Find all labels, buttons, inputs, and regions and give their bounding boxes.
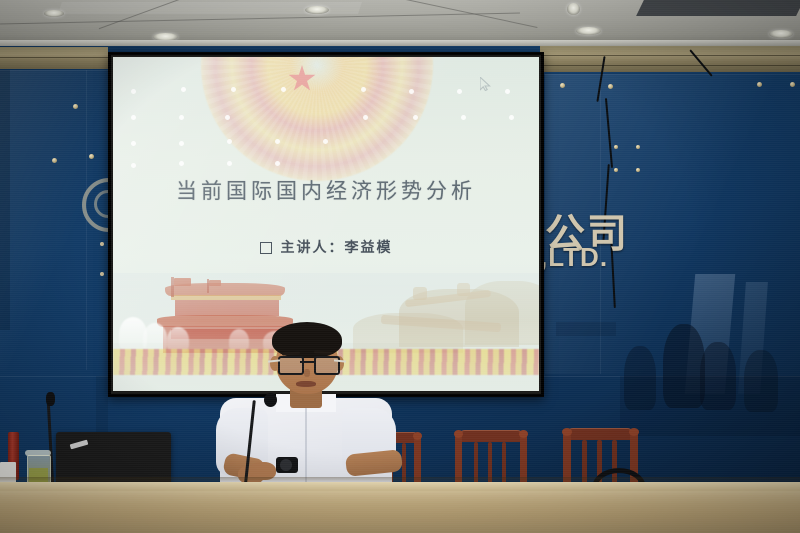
wall-edge-shadow <box>96 376 108 436</box>
glasses-lens-left <box>278 356 304 375</box>
wall-screw <box>757 82 762 87</box>
presenter-nose <box>304 369 310 377</box>
downlight-icon <box>576 27 601 35</box>
decor-dot <box>361 87 366 92</box>
downlight-icon <box>567 3 580 15</box>
downlight-icon <box>769 30 793 38</box>
valance-band <box>540 46 800 72</box>
decor-dot <box>231 87 236 92</box>
decor-dot <box>131 141 136 146</box>
reflection-shadow <box>620 376 800 436</box>
glasses-bridge <box>300 361 314 363</box>
decor-dot <box>509 115 514 120</box>
decor-dot <box>409 89 414 94</box>
wall-screw <box>52 158 57 163</box>
decor-dot <box>131 89 136 94</box>
cursor-icon <box>480 77 491 91</box>
decor-dot <box>363 115 368 120</box>
valance-line <box>540 65 800 66</box>
decor-dot <box>225 115 230 120</box>
logo-dot <box>100 272 104 276</box>
chair-backrest-top <box>566 428 634 440</box>
decor-dot <box>179 115 184 120</box>
presenter-forearm-right <box>345 449 403 477</box>
wall-screw <box>608 84 613 89</box>
decor-dot <box>457 89 462 94</box>
reflection-shadow <box>556 322 616 336</box>
wall-screw <box>73 104 78 109</box>
decor-dot <box>179 161 184 166</box>
ceiling-seam <box>0 13 520 25</box>
presenter-mouth <box>296 381 316 387</box>
decor-dot <box>281 87 286 92</box>
downlight-icon <box>305 6 329 14</box>
decor-dot <box>275 161 280 166</box>
downlight-icon <box>44 10 64 17</box>
wall-screw <box>614 145 618 149</box>
wall-company-name-en: ,LTD. <box>540 242 608 273</box>
valance-line <box>540 55 800 56</box>
chair-backrest-top <box>458 430 524 442</box>
laptop-logo <box>70 440 89 450</box>
wall-screw <box>614 168 618 172</box>
wall-screw <box>636 145 640 149</box>
microphone-head-left <box>46 392 55 406</box>
hanging-cable <box>605 98 613 168</box>
wall-seam <box>0 70 108 71</box>
wall-seam <box>544 74 800 75</box>
tea-glass-lid <box>25 450 51 456</box>
presentation-photo-scene: 公司 ,LTD. <box>0 0 800 533</box>
decor-dot <box>323 139 328 144</box>
chair-knob <box>562 428 572 436</box>
valance-line <box>0 57 108 58</box>
decor-dot <box>461 115 466 120</box>
sunburst-rays <box>201 57 433 181</box>
wall-screw <box>560 83 565 88</box>
chair-knob <box>413 432 422 440</box>
decor-dot <box>179 141 184 146</box>
chair-knob <box>454 430 463 438</box>
slide-subtitle-text: 主讲人：李益模 <box>281 240 393 256</box>
logo-dot <box>100 242 104 246</box>
slide-title: 当前国际国内经济形势分析 <box>113 175 539 205</box>
microphone-head <box>264 393 277 407</box>
wall-screw <box>89 154 94 159</box>
wall-screw <box>636 168 640 172</box>
slide-subtitle: 主讲人：李益模 <box>113 237 539 257</box>
decor-dot <box>131 115 136 120</box>
decor-dot <box>131 163 136 168</box>
bullet-square-icon <box>260 242 272 254</box>
decor-dot <box>227 161 232 166</box>
decor-dot <box>413 115 418 120</box>
decor-dot <box>181 87 186 92</box>
chair-knob <box>519 430 528 438</box>
chair-knob <box>629 428 639 436</box>
wall-screw <box>790 82 795 87</box>
table-edge-highlight <box>0 482 800 491</box>
conference-table <box>0 491 800 533</box>
decor-dot <box>227 139 232 144</box>
ceiling-dark-panel <box>636 0 800 16</box>
decor-dot <box>275 139 280 144</box>
valance-band <box>0 47 108 69</box>
wristwatch <box>276 457 298 473</box>
decor-dot <box>505 89 510 94</box>
watch-face <box>280 459 292 471</box>
wall-edge-shadow <box>0 70 10 330</box>
